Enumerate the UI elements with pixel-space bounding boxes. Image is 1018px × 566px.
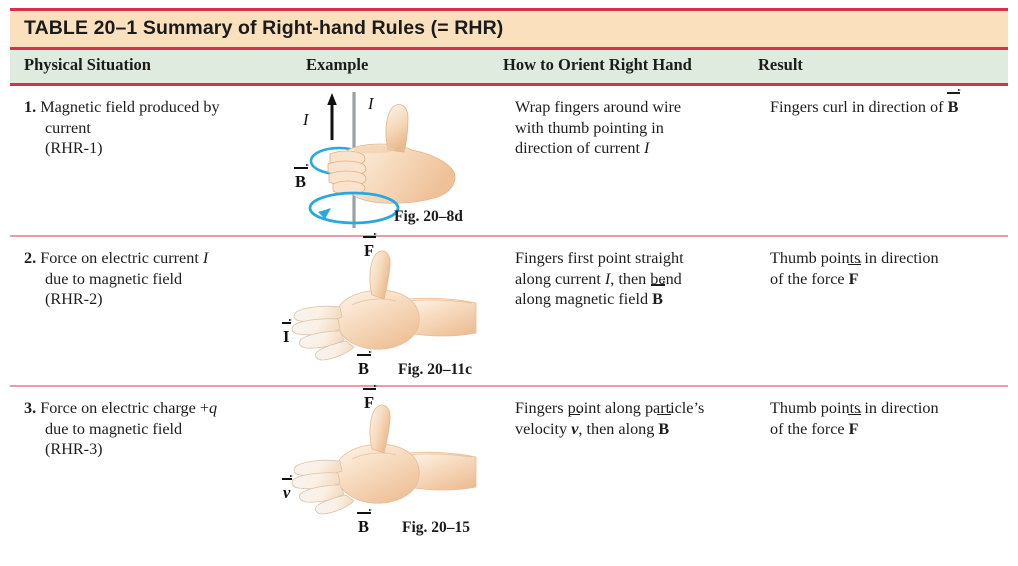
figure-3-label-velocity: v bbox=[283, 483, 290, 503]
orient-3-line2-mid: , then along bbox=[578, 420, 658, 438]
column-header-result: Result bbox=[758, 55, 803, 75]
cell-orient-3: Fingers point along particle’s velocity … bbox=[515, 398, 760, 439]
figure-3-label-field: B bbox=[358, 517, 369, 537]
situation-2-line3: (RHR-2) bbox=[45, 290, 103, 308]
column-header-how-to-orient: How to Orient Right Hand bbox=[503, 55, 692, 75]
page-title: TABLE 20–1 Summary of Right-hand Rules (… bbox=[24, 17, 503, 39]
vector-f-figure-2: F bbox=[364, 241, 374, 261]
situation-3-symbol-q: q bbox=[209, 399, 217, 417]
table-row: 2. Force on electric current I due to ma… bbox=[10, 237, 1008, 385]
situation-1-line1: Magnetic field produced by bbox=[40, 98, 219, 116]
vector-f-result-3: F bbox=[849, 419, 859, 440]
result-2-line2-pre: of the force bbox=[770, 270, 849, 288]
orient-2-line2-pre: along current bbox=[515, 270, 605, 288]
table-row: 3. Force on electric charge +q due to ma… bbox=[10, 387, 1008, 547]
figure-2-caption: Fig. 20–11c bbox=[398, 361, 472, 379]
vector-f-figure-3: F bbox=[364, 393, 374, 413]
orient-2-line1: Fingers first point straight bbox=[515, 249, 684, 267]
situation-2-line2: due to magnetic field bbox=[45, 270, 182, 288]
vector-v-figure-3: v bbox=[283, 483, 290, 503]
result-3-line2-pre: of the force bbox=[770, 420, 849, 438]
table-header-band: Physical Situation Example How to Orient… bbox=[10, 50, 1008, 83]
orient-1-line1: Wrap fingers around wire bbox=[515, 98, 681, 116]
cell-situation-3: 3. Force on electric charge +q due to ma… bbox=[24, 398, 310, 460]
column-header-physical-situation: Physical Situation bbox=[24, 55, 151, 75]
cell-situation-1: 1. Magnetic field produced by current (R… bbox=[24, 97, 305, 159]
situation-2-symbol-i: I bbox=[203, 249, 208, 267]
figure-rhr-2-graphic bbox=[280, 241, 500, 381]
orient-1-line2: with thumb pointing in bbox=[515, 119, 664, 137]
cell-result-2: Thumb points in direction of the force F bbox=[770, 248, 1010, 289]
cell-result-3: Thumb points in direction of the force F bbox=[770, 398, 1010, 439]
table-title-band: TABLE 20–1 Summary of Right-hand Rules (… bbox=[10, 11, 1008, 47]
situation-3-line3: (RHR-3) bbox=[45, 440, 103, 458]
vector-b-figure-3: B bbox=[358, 517, 369, 537]
figure-rhr-3: F v B Fig. 20–15 bbox=[280, 393, 500, 538]
column-header-example: Example bbox=[306, 55, 368, 75]
figure-1-caption: Fig. 20–8d bbox=[394, 208, 463, 226]
cell-result-1: Fingers curl in direction of B bbox=[770, 97, 1010, 118]
figure-rhr-1: I I B Fig. 20–8d bbox=[292, 88, 492, 233]
figure-2-label-force: F bbox=[364, 241, 374, 261]
vector-v-orient-3: v bbox=[571, 419, 578, 440]
table-row: 1. Magnetic field produced by current (R… bbox=[10, 86, 1008, 235]
header-row: Physical Situation Example How to Orient… bbox=[10, 55, 1008, 77]
situation-1-line3: (RHR-1) bbox=[45, 139, 103, 157]
figure-2-label-current: I bbox=[283, 327, 289, 347]
figure-2-label-field: B bbox=[358, 359, 369, 379]
vector-f-result-2: F bbox=[849, 269, 859, 290]
figure-3-label-force: F bbox=[364, 393, 374, 413]
cell-orient-1: Wrap fingers around wire with thumb poin… bbox=[515, 97, 745, 159]
row-number-1: 1. bbox=[24, 98, 36, 116]
orient-3-line2-pre: velocity bbox=[515, 420, 571, 438]
rhr-summary-table: TABLE 20–1 Summary of Right-hand Rules (… bbox=[10, 8, 1008, 547]
result-1-text: Fingers curl in direction of bbox=[770, 98, 948, 116]
situation-2-line1-pre: Force on electric current bbox=[40, 249, 203, 267]
figure-rhr-3-graphic bbox=[280, 393, 500, 538]
figure-1-label-field: B bbox=[295, 172, 306, 192]
situation-3-line1-pre: Force on electric charge + bbox=[40, 399, 209, 417]
orient-3-line1: Fingers point along particle’s bbox=[515, 399, 704, 417]
orient-2-line2-post: , then bend bbox=[610, 270, 681, 288]
vector-b-figure-1: B bbox=[295, 172, 306, 192]
vector-i-figure-2: I bbox=[283, 327, 289, 347]
orient-2-line3-pre: along magnetic field bbox=[515, 290, 652, 308]
situation-1-line2: current bbox=[45, 119, 91, 137]
row-number-3: 3. bbox=[24, 399, 36, 417]
orient-1-symbol-i: I bbox=[644, 139, 649, 157]
figure-1-label-current-left: I bbox=[303, 110, 309, 130]
vector-b-orient-3: B bbox=[658, 419, 669, 440]
orient-1-line3-pre: direction of current bbox=[515, 139, 644, 157]
cell-situation-2: 2. Force on electric current I due to ma… bbox=[24, 248, 310, 310]
vector-b-result-1: B bbox=[948, 97, 959, 118]
situation-3-line2: due to magnetic field bbox=[45, 420, 182, 438]
vector-b-figure-2: B bbox=[358, 359, 369, 379]
vector-b-orient-2: B bbox=[652, 289, 663, 310]
row-number-2: 2. bbox=[24, 249, 36, 267]
cell-orient-2: Fingers first point straight along curre… bbox=[515, 248, 750, 310]
figure-3-caption: Fig. 20–15 bbox=[402, 519, 470, 537]
figure-rhr-2: F I B Fig. 20–11c bbox=[280, 241, 500, 381]
figure-1-label-current-top: I bbox=[368, 94, 374, 114]
